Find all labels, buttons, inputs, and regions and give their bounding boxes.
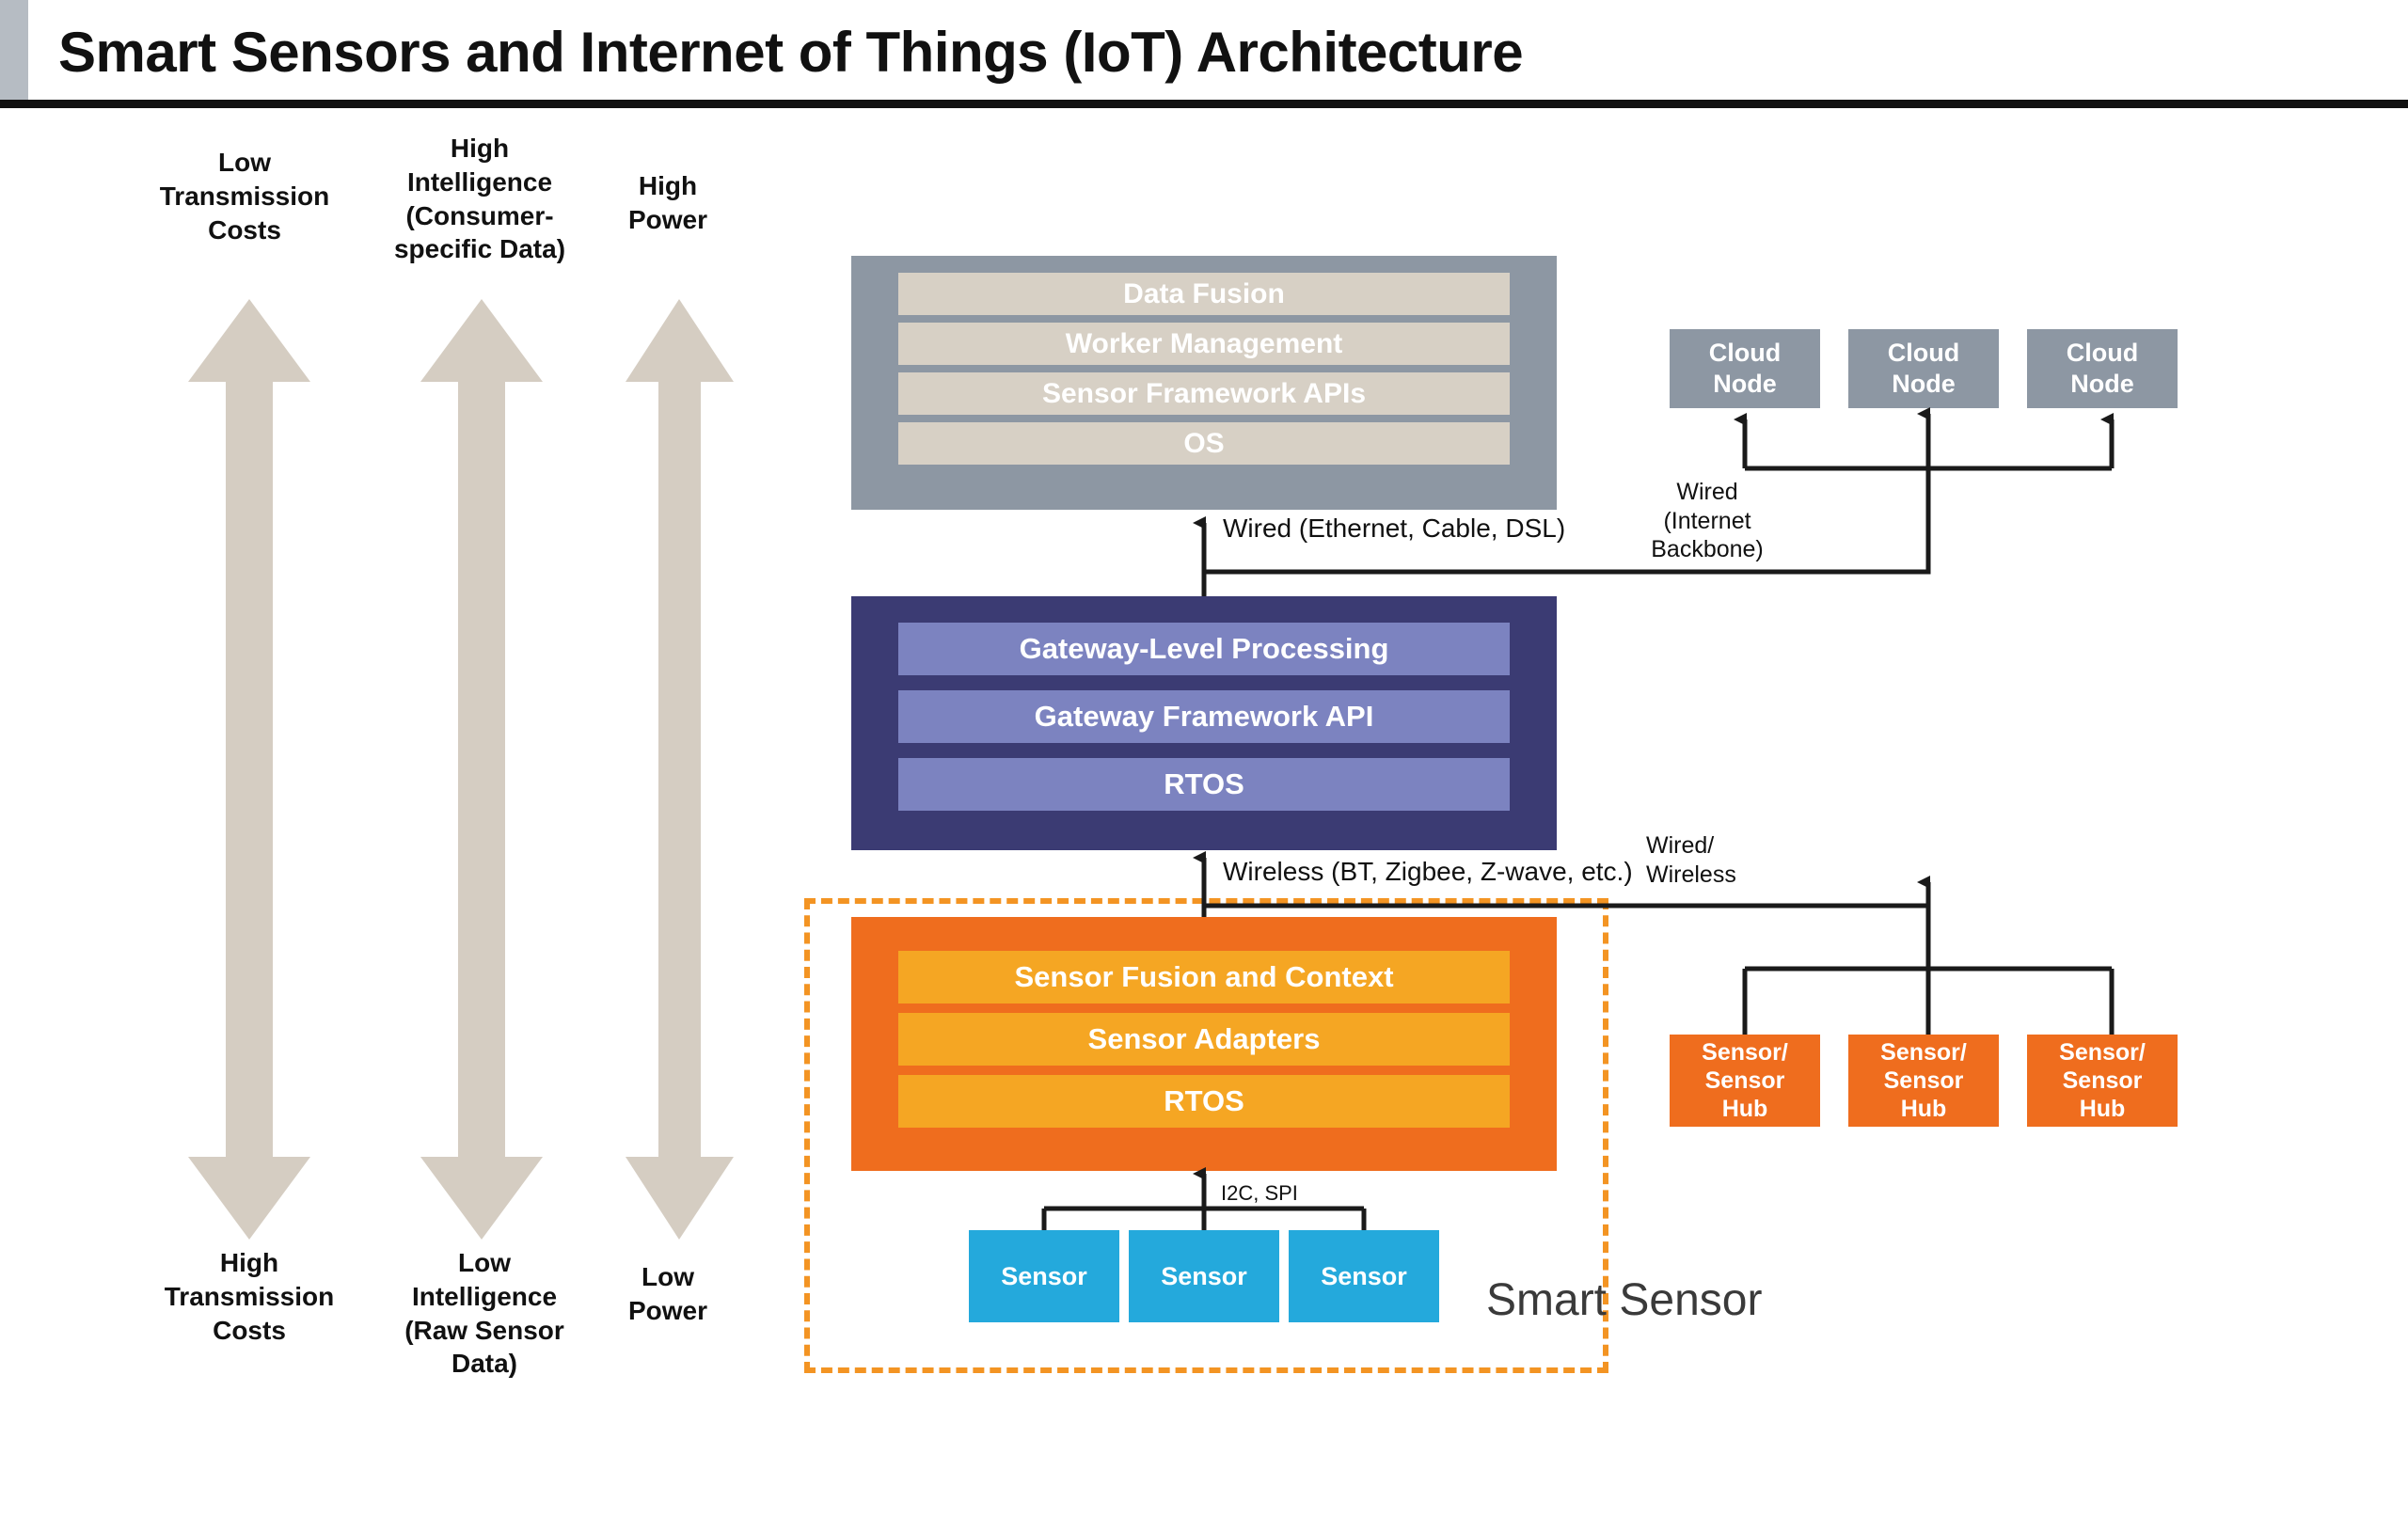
sensor-hub-2[interactable]: Sensor/SensorHub — [1848, 1035, 1999, 1127]
cloud-row-data-fusion[interactable]: Data Fusion — [898, 273, 1510, 315]
axis-transmission-arrow — [188, 299, 310, 1240]
gateway-row-framework-api[interactable]: Gateway Framework API — [898, 690, 1510, 743]
sensor-box-2[interactable]: Sensor — [1129, 1230, 1279, 1322]
axis-transmission-bottom-label: HighTransmissionCosts — [132, 1246, 367, 1347]
axis-transmission-top-label: LowTransmissionCosts — [132, 146, 357, 246]
gateway-stack[interactable]: Gateway-Level Processing Gateway Framewo… — [851, 596, 1557, 850]
axis-intelligence-arrow — [420, 299, 543, 1240]
cloud-row-worker-management[interactable]: Worker Management — [898, 323, 1510, 365]
sensor-hub-1[interactable]: Sensor/SensorHub — [1670, 1035, 1820, 1127]
label-wired-ethernet: Wired (Ethernet, Cable, DSL) — [1223, 513, 1565, 545]
cloud-node-3[interactable]: CloudNode — [2027, 329, 2178, 408]
sensor-row-rtos[interactable]: RTOS — [898, 1075, 1510, 1128]
axis-power-top-label: HighPower — [564, 169, 771, 237]
page-title: Smart Sensors and Internet of Things (Io… — [58, 9, 2128, 94]
header-accent-bar — [0, 0, 28, 100]
gateway-row-processing[interactable]: Gateway-Level Processing — [898, 623, 1510, 675]
cloud-node-2[interactable]: CloudNode — [1848, 329, 1999, 408]
cloud-platform-stack[interactable]: Data Fusion Worker Management Sensor Fra… — [851, 256, 1557, 510]
axis-power-bottom-label: LowPower — [564, 1260, 771, 1328]
sensor-hub-3[interactable]: Sensor/SensorHub — [2027, 1035, 2178, 1127]
smart-sensor-stack[interactable]: Sensor Fusion and Context Sensor Adapter… — [851, 917, 1557, 1171]
sensor-box-3[interactable]: Sensor — [1289, 1230, 1439, 1322]
smart-sensor-caption: Smart Sensor — [1486, 1274, 1762, 1326]
cloud-row-sensor-framework-apis[interactable]: Sensor Framework APIs — [898, 372, 1510, 415]
cloud-node-1[interactable]: CloudNode — [1670, 329, 1820, 408]
cloud-row-os[interactable]: OS — [898, 422, 1510, 465]
sensor-row-adapters[interactable]: Sensor Adapters — [898, 1013, 1510, 1066]
label-wired-backbone: Wired(InternetBackbone) — [1623, 478, 1792, 564]
label-wireless: Wireless (BT, Zigbee, Z-wave, etc.) — [1223, 856, 1633, 888]
sensor-box-1[interactable]: Sensor — [969, 1230, 1119, 1322]
axis-intelligence-top-label: HighIntelligence(Consumer-specific Data) — [367, 132, 593, 266]
header-divider-rule — [0, 100, 2408, 108]
axis-power-arrow — [626, 299, 734, 1240]
label-wired-wireless: Wired/Wireless — [1646, 831, 1797, 889]
gateway-row-rtos[interactable]: RTOS — [898, 758, 1510, 811]
label-i2c-spi: I2C, SPI — [1221, 1181, 1298, 1207]
sensor-row-fusion-context[interactable]: Sensor Fusion and Context — [898, 951, 1510, 1003]
